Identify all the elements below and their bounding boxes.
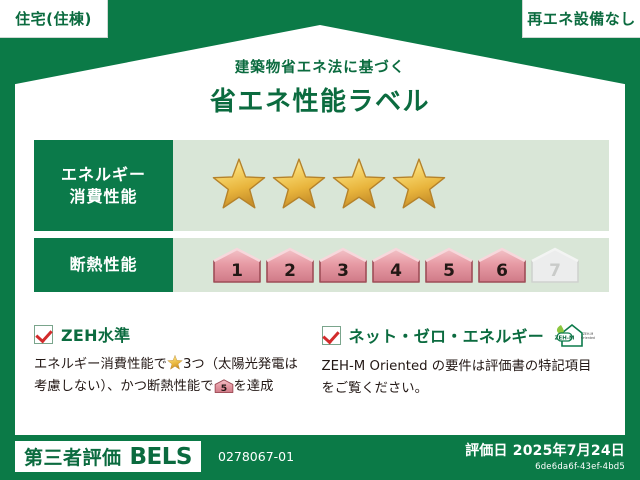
performance-rows: エネルギー 消費性能 断熱性能 1234567 bbox=[34, 140, 609, 299]
page-title: 建築物省エネ法に基づく 省エネ性能ラベル bbox=[0, 56, 640, 118]
evaluation-date-value: 2025年7月24日 bbox=[513, 443, 625, 459]
note-nzeb-body: ZEH-M Oriented の要件は評価書の特記項目をご覧ください。 bbox=[322, 356, 598, 399]
zeh-m-logo-icon: ZEH-M ZEH-M Oriented bbox=[552, 322, 596, 348]
evaluation-hash: 6de6da6f-43ef-4bd5 bbox=[465, 462, 625, 472]
grade-scale: 1234567 bbox=[211, 245, 581, 285]
note-nzeb-title: ネット・ゼロ・エネルギー bbox=[349, 323, 545, 347]
tag-renewable-energy-label: 再エネ設備なし bbox=[527, 8, 636, 29]
checkbox-zeh-icon bbox=[34, 325, 53, 344]
row-insulation-label-line1: 断熱性能 bbox=[69, 254, 137, 276]
evaluation-date-label: 評価日 bbox=[465, 443, 508, 459]
grade-house-1: 1 bbox=[211, 245, 263, 285]
grade-house-5: 5 bbox=[423, 245, 475, 285]
note-zeh-body: エネルギー消費性能で3つ（太陽光発電は考慮しない）、かつ断熱性能で5を達成 bbox=[34, 354, 310, 397]
star-icon bbox=[271, 158, 327, 214]
star-icon bbox=[211, 158, 267, 214]
title-subtitle: 建築物省エネ法に基づく bbox=[0, 56, 640, 77]
star-icon bbox=[331, 158, 387, 214]
grade-house-label: 3 bbox=[337, 261, 349, 285]
row-insulation-body: 1234567 bbox=[173, 238, 609, 292]
note-zeh-title: ZEH水準 bbox=[61, 322, 130, 346]
note-nzeb: ネット・ゼロ・エネルギー ZEH-M ZEH-M Oriented ZEH-M … bbox=[322, 322, 610, 418]
row-energy-label-line2: 消費性能 bbox=[69, 186, 137, 208]
row-energy-label: エネルギー 消費性能 bbox=[34, 140, 173, 231]
note-zeh-head: ZEH水準 bbox=[34, 322, 310, 346]
note-zeh-body-part1: エネルギー消費性能で bbox=[34, 357, 167, 372]
grade-house-2: 2 bbox=[264, 245, 316, 285]
grade-house-label: 2 bbox=[284, 261, 296, 285]
notes-section: ZEH水準 エネルギー消費性能で3つ（太陽光発電は考慮しない）、かつ断熱性能で5… bbox=[34, 322, 609, 418]
svg-text:5: 5 bbox=[220, 383, 226, 394]
tag-renewable-energy: 再エネ設備なし bbox=[522, 0, 640, 38]
title-main: 省エネ性能ラベル bbox=[0, 81, 640, 118]
svg-text:ZEH-M: ZEH-M bbox=[555, 335, 575, 341]
footer-bar: 第三者評価 BELS 0278067-01 評価日 2025年7月24日 6de… bbox=[0, 433, 640, 480]
star-rating bbox=[211, 158, 447, 214]
inline-grade-house-icon: 5 bbox=[214, 378, 234, 394]
grade-house-3: 3 bbox=[317, 245, 369, 285]
row-insulation-label: 断熱性能 bbox=[34, 238, 173, 292]
grade-house-7: 7 bbox=[529, 245, 581, 285]
grade-house-label: 5 bbox=[443, 261, 455, 285]
evaluation-date: 評価日 2025年7月24日 bbox=[465, 440, 625, 460]
bels-badge: 第三者評価 BELS bbox=[15, 441, 201, 472]
bels-number: 0278067-01 bbox=[218, 449, 294, 464]
note-zeh-body-part3: を達成 bbox=[234, 379, 274, 394]
note-nzeb-head: ネット・ゼロ・エネルギー ZEH-M ZEH-M Oriented bbox=[322, 322, 598, 348]
svg-text:Oriented: Oriented bbox=[581, 336, 595, 340]
bels-en-label: BELS bbox=[130, 444, 192, 470]
checkbox-nzeb-icon bbox=[322, 326, 341, 345]
grade-house-6: 6 bbox=[476, 245, 528, 285]
star-icon bbox=[391, 158, 447, 214]
bels-jp-label: 第三者評価 bbox=[24, 443, 122, 470]
row-insulation-performance: 断熱性能 1234567 bbox=[34, 238, 609, 292]
grade-house-4: 4 bbox=[370, 245, 422, 285]
grade-house-label: 6 bbox=[496, 261, 508, 285]
footer-divider bbox=[15, 433, 625, 435]
inline-star-icon bbox=[167, 355, 183, 371]
row-energy-consumption: エネルギー 消費性能 bbox=[34, 140, 609, 231]
note-zeh: ZEH水準 エネルギー消費性能で3つ（太陽光発電は考慮しない）、かつ断熱性能で5… bbox=[34, 322, 322, 418]
grade-house-label: 7 bbox=[549, 261, 561, 285]
row-energy-body bbox=[173, 140, 609, 231]
evaluation-info: 評価日 2025年7月24日 6de6da6f-43ef-4bd5 bbox=[465, 440, 625, 472]
tag-building-type: 住宅(住棟) bbox=[0, 0, 108, 38]
row-energy-label-line1: エネルギー bbox=[61, 164, 146, 186]
energy-performance-label: 住宅(住棟) 再エネ設備なし 建築物省エネ法に基づく 省エネ性能ラベル エネルギ… bbox=[0, 0, 640, 480]
grade-house-label: 1 bbox=[231, 261, 243, 285]
tag-building-type-label: 住宅(住棟) bbox=[15, 8, 92, 29]
grade-house-label: 4 bbox=[390, 261, 402, 285]
